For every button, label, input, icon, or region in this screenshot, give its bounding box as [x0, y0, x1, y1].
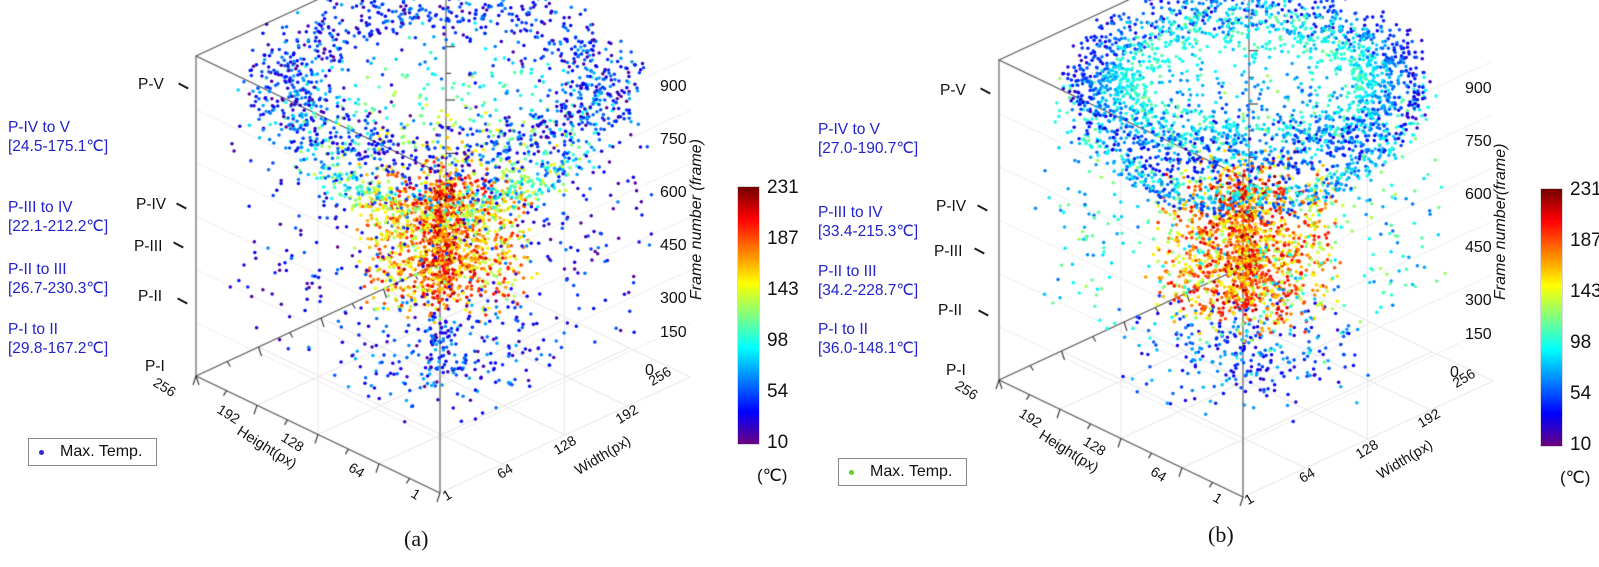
z-tick-900-b: 900 — [1465, 80, 1492, 98]
colorbar-tick-231-a: 231 — [767, 177, 799, 199]
z-tick-900-a: 900 — [660, 78, 687, 96]
panel-b: P-IV to V [27.0-190.7℃] P-III to IV [33.… — [800, 0, 1599, 567]
annotation-p4-to-v-b: P-IV to V [27.0-190.7℃] — [818, 120, 918, 158]
colorbar-tick-231-b: 231 — [1570, 179, 1599, 201]
z-axis-label-b: Frame number(frame) — [1492, 144, 1510, 300]
z-tick-600-b: 600 — [1465, 186, 1492, 204]
legend-a[interactable]: Max. Temp. — [28, 438, 157, 466]
annotation-p3-to-iv-b: P-III to IV [33.4-215.3℃] — [818, 203, 918, 241]
panel-a: P-IV to V [24.5-175.1℃] P-III to IV [22.… — [0, 0, 799, 567]
annotation-range: [34.2-228.7℃] — [818, 281, 918, 300]
annotation-range: [22.1-212.2℃] — [8, 217, 108, 236]
annotation-title: P-IV to V — [8, 118, 108, 137]
legend-label-b: Max. Temp. — [870, 463, 952, 481]
colorbar-tick-10-b: 10 — [1570, 434, 1591, 456]
colorbar-tick-54-b: 54 — [1570, 383, 1591, 405]
colorbar-tick-98-b: 98 — [1570, 332, 1591, 354]
legend-b[interactable]: Max. Temp. — [838, 458, 967, 486]
level-label-p-v-a: P-V — [138, 76, 164, 94]
caption-a: (a) — [404, 526, 428, 552]
level-label-p-v-b: P-V — [940, 82, 966, 100]
z-tick-150-a: 150 — [660, 324, 687, 342]
annotation-title: P-III to IV — [818, 203, 918, 222]
annotation-title: P-I to II — [818, 320, 918, 339]
level-label-p-ii-a: P-II — [138, 288, 162, 306]
legend-marker-icon — [849, 470, 854, 475]
z-tick-150-b: 150 — [1465, 326, 1492, 344]
level-label-p-iv-b: P-IV — [936, 198, 966, 216]
annotation-title: P-III to IV — [8, 198, 108, 217]
annotation-p3-to-iv-a: P-III to IV [22.1-212.2℃] — [8, 198, 108, 236]
legend-marker-icon — [39, 450, 44, 455]
colorbar-tick-98-a: 98 — [767, 330, 788, 352]
colorbar-gradient-b — [1540, 188, 1563, 447]
z-tick-450-a: 450 — [660, 237, 687, 255]
annotation-p2-to-iii-b: P-II to III [34.2-228.7℃] — [818, 262, 918, 300]
annotation-range: [36.0-148.1℃] — [818, 339, 918, 358]
colorbar-tick-187-a: 187 — [767, 228, 799, 250]
figure-root: P-IV to V [24.5-175.1℃] P-III to IV [22.… — [0, 0, 1599, 567]
level-label-p-iii-a: P-III — [134, 238, 162, 256]
z-tick-300-a: 300 — [660, 290, 687, 308]
level-label-p-iv-a: P-IV — [136, 196, 166, 214]
annotation-range: [24.5-175.1℃] — [8, 137, 108, 156]
colorbar-gradient-a — [737, 186, 760, 445]
level-label-p-iii-b: P-III — [934, 243, 962, 261]
colorbar-unit-a: (℃) — [757, 466, 787, 486]
annotation-title: P-II to III — [818, 262, 918, 281]
level-label-p-ii-b: P-II — [938, 302, 962, 320]
annotation-title: P-II to III — [8, 260, 108, 279]
colorbar-tick-54-a: 54 — [767, 381, 788, 403]
colorbar-tick-10-a: 10 — [767, 432, 788, 454]
annotation-title: P-I to II — [8, 320, 108, 339]
z-tick-300-b: 300 — [1465, 292, 1492, 310]
z-tick-750-a: 750 — [660, 131, 687, 149]
annotation-title: P-IV to V — [818, 120, 918, 139]
legend-label-a: Max. Temp. — [60, 443, 142, 461]
z-axis-label-a: Frame number (frame) — [688, 139, 706, 300]
annotation-p1-to-ii-b: P-I to II [36.0-148.1℃] — [818, 320, 918, 358]
colorbar-tick-143-a: 143 — [767, 279, 799, 301]
z-tick-600-a: 600 — [660, 184, 687, 202]
z-tick-750-b: 750 — [1465, 133, 1492, 151]
caption-b: (b) — [1208, 522, 1234, 548]
annotation-p1-to-ii-a: P-I to II [29.8-167.2℃] — [8, 320, 108, 358]
colorbar-unit-b: (℃) — [1560, 468, 1590, 488]
annotation-p4-to-v-a: P-IV to V [24.5-175.1℃] — [8, 118, 108, 156]
annotation-p2-to-iii-a: P-II to III [26.7-230.3℃] — [8, 260, 108, 298]
annotation-range: [27.0-190.7℃] — [818, 139, 918, 158]
annotation-range: [29.8-167.2℃] — [8, 339, 108, 358]
colorbar-tick-143-b: 143 — [1570, 281, 1599, 303]
colorbar-tick-187-b: 187 — [1570, 230, 1599, 252]
annotation-range: [26.7-230.3℃] — [8, 279, 108, 298]
level-label-p-i-a: P-I — [145, 358, 165, 376]
z-tick-450-b: 450 — [1465, 239, 1492, 257]
annotation-range: [33.4-215.3℃] — [818, 222, 918, 241]
